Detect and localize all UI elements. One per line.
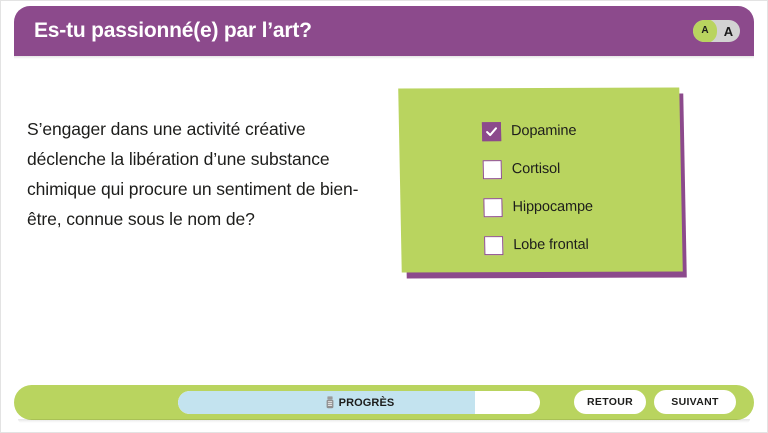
- answer-label-0: Dopamine: [511, 123, 577, 139]
- progress-bar-content: PROGRÈS: [178, 391, 540, 414]
- medal-icon: [324, 396, 336, 409]
- checkbox-empty-icon[interactable]: [483, 160, 502, 179]
- header-bar: Es-tu passionné(e) par l’art? A A: [14, 6, 754, 56]
- text-size-small-option[interactable]: A: [693, 20, 717, 42]
- answers-card: Dopamine Cortisol: [395, 80, 695, 290]
- answers-list: Dopamine Cortisol: [398, 88, 683, 273]
- answer-option-1[interactable]: Cortisol: [482, 150, 681, 189]
- progress-bar: PROGRÈS: [178, 391, 540, 414]
- answer-option-3[interactable]: Lobe frontal: [484, 226, 683, 265]
- checkbox-checked-icon[interactable]: [482, 122, 501, 141]
- content-area: S’engager dans une activité créative déc…: [0, 58, 768, 368]
- answer-label-3: Lobe frontal: [513, 237, 589, 253]
- checkbox-empty-icon[interactable]: [484, 236, 503, 255]
- answer-label-2: Hippocampe: [512, 199, 593, 215]
- text-size-toggle[interactable]: A A: [693, 20, 740, 42]
- answer-label-1: Cortisol: [512, 161, 561, 177]
- quiz-screen: Es-tu passionné(e) par l’art? A A S’enga…: [0, 0, 768, 433]
- answer-option-2[interactable]: Hippocampe: [483, 188, 682, 227]
- question-text: S’engager dans une activité créative déc…: [27, 114, 372, 234]
- footer-shadow: [18, 419, 750, 423]
- progress-label: PROGRÈS: [339, 397, 395, 409]
- next-button[interactable]: SUIVANT: [654, 390, 736, 414]
- checkbox-empty-icon[interactable]: [483, 198, 502, 217]
- footer-bar: PROGRÈS RETOUR SUIVANT: [14, 385, 754, 420]
- answer-option-0[interactable]: Dopamine: [482, 112, 681, 151]
- page-title: Es-tu passionné(e) par l’art?: [34, 19, 312, 43]
- text-size-large-option[interactable]: A: [717, 20, 740, 42]
- back-button[interactable]: RETOUR: [574, 390, 646, 414]
